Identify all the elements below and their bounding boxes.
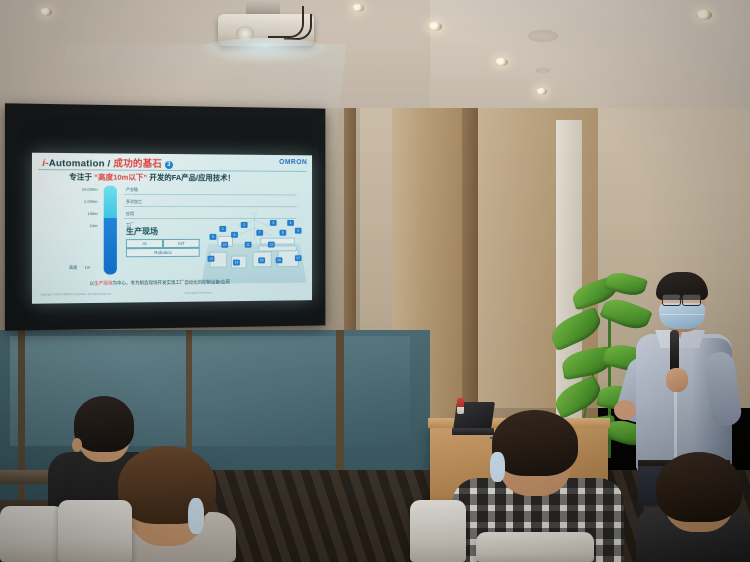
slide-title: i-Automation / 成功的基石 3 [42,155,173,170]
callout-badge: 10 [221,242,228,248]
eyeglasses-left-lens [662,294,681,306]
callout-badge: 14 [233,260,240,266]
axis-bottom-label: 高度 1m [69,265,90,271]
ceiling-vent [536,68,550,73]
axis-label-3: 100m [67,211,98,216]
slide-content: i-Automation / 成功的基石 3 OMRON 专注于 “高度10m以… [32,153,312,304]
technology-table: AI IoT Robotics [126,239,200,257]
ceiling-spotlight [696,10,712,20]
subtitle-highlight: “高度10m以下” [94,173,147,182]
bar-segment-dark [104,218,117,275]
subtitle-pre: 专注于 [69,172,92,181]
attendee-ear [72,438,82,452]
omron-logo: OMRON [279,159,307,166]
callout-badge: 4 [287,220,294,226]
tier-label-3: 应用 [126,211,134,217]
audience-chair [0,506,64,562]
footer-highlight: 生产现场 [94,281,112,286]
callout-badge: 1 [219,226,226,232]
production-site-label: 生产现场 [126,226,158,237]
callout-badge: 7 [256,230,263,236]
glass-reflection [10,336,410,446]
callout-badge: 5 [210,234,217,240]
ceiling-spotlight [352,4,364,12]
ceiling-spotlight [40,8,52,16]
table-row: AI IoT [126,239,200,248]
attendee-face-mask [490,452,505,482]
slide-copyright: Copyright © 2021 OMRON Corporation. All … [40,293,112,297]
ceiling-spotlight [428,22,442,31]
slide-subtitle: 专注于 “高度10m以下” 开发的FA产品/应用技术！ [69,171,235,183]
presenter-gesturing-hand [614,400,636,420]
attendee-hair [74,396,134,452]
subtitle-post: 开发的FA产品/应用技术！ [149,173,235,182]
slide-copyright-right: i-Automation! Reference [184,292,212,295]
wood-panel-dark [462,108,478,438]
tier-divider [124,194,297,196]
axis-bottom-name: 高度 [69,265,77,270]
tier-label-2: 多次加工 [126,199,142,205]
callout-badge: 15 [258,257,265,263]
plant-leaf [547,307,605,352]
callout-badge: 6 [231,232,238,238]
slide-title-en: Automation / [49,158,111,170]
callout-badge: 13 [208,256,215,262]
water-bottle [457,398,464,414]
axis-bottom-value: 1m [85,265,91,270]
ceiling-spotlight [495,58,508,66]
face-mask [659,303,705,329]
slide-footer-caption: 以生产现场为中心，专为制造现场开发实现工厂自动化的控制设备/应用 [89,279,229,286]
factory-illustration: 1 2 3 4 5 6 7 8 9 10 11 12 13 14 15 16 1… [202,212,307,284]
slide-title-cn: 成功的基石 [113,159,162,170]
tier-label-1: 产业链 [126,187,138,193]
height-scale-bar [104,186,117,275]
audience-chair [476,532,594,562]
axis-label-4: 10m [67,223,98,228]
callout-badge: 9 [295,228,302,234]
tier-divider [124,206,297,207]
callout-badge: 12 [268,242,275,248]
table-row: Robotics [126,248,200,257]
callout-badge: 17 [295,255,302,261]
callout-badge: 11 [245,242,252,248]
bar-segment-light [104,186,117,218]
slide-title-badge: 3 [165,161,173,169]
table-cell-ai: AI [126,239,163,248]
face-mask-fold [660,314,704,315]
conveyor-belt [258,245,296,251]
projection-screen: i-Automation / 成功的基石 3 OMRON 专注于 “高度10m以… [5,103,325,330]
table-cell-robotics: Robotics [126,248,200,257]
laptop-keyboard [452,428,494,435]
presentation-photo: i-Automation / 成功的基石 3 OMRON 专注于 “高度10m以… [0,0,750,562]
eyeglasses-right-lens [682,294,701,306]
attendee-hair [656,452,742,522]
presenter-hand-holding-mic [666,368,688,392]
footer-post: 为中心，专为制造现场开发实现工厂自动化的控制设备/应用 [112,279,230,285]
audience-chair [410,500,466,562]
table-cell-iot: IoT [163,239,200,248]
axis-label-2: 1,000m [67,199,98,204]
eyeglasses-bridge [679,298,683,300]
ceiling-spotlight [536,88,547,95]
conveyor-belt [260,238,295,245]
audience-chair [58,500,132,562]
axis-label-1: 10,000m [67,187,98,192]
callout-badge: 16 [276,257,283,263]
callout-badge: 3 [270,220,277,226]
callout-badge: 2 [241,222,248,228]
attendee-face-mask [188,498,204,534]
callout-badge: 8 [280,230,287,236]
smoke-detector [528,30,558,42]
